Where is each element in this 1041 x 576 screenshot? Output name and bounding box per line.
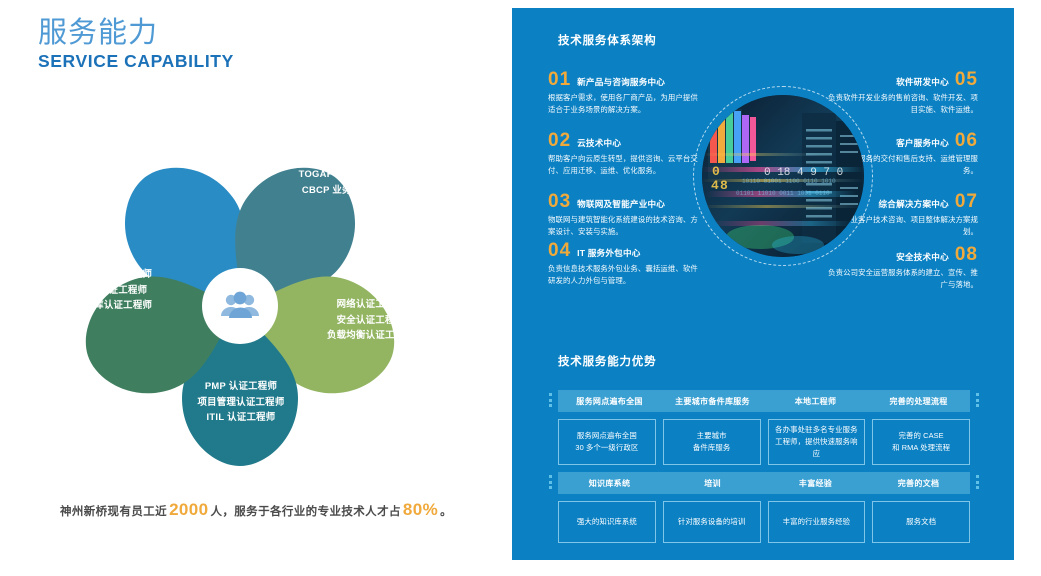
notch-right-decoration (974, 475, 981, 491)
arch-item-04-head: 04 IT 服务外包中心 (548, 241, 698, 260)
advantages-table-2-header: 知识库系统 培训 丰富经验 完善的文档 (558, 472, 970, 494)
svg-text:10110 01001 1100 0110 1010: 10110 01001 1100 0110 1010 (742, 178, 836, 185)
table-cell: 针对服务设备的培训 (663, 501, 761, 543)
table-header-cell: 主要城市备件库服务 (661, 390, 764, 412)
advantages-table-1: 服务网点遍布全国 主要城市备件库服务 本地工程师 完善的处理流程 服务网点遍布全… (558, 390, 970, 465)
table-cell-line: 30 多个一级行政区 (575, 442, 638, 454)
arch-item-04: 04 IT 服务外包中心 负责信息技术服务外包业务、囊括运维、软件研发的人力外包… (548, 241, 698, 287)
table-cell-line: 服务文档 (906, 516, 936, 528)
table-header-cell: 完善的文档 (867, 472, 970, 494)
advantages-table-2: 知识库系统 培训 丰富经验 完善的文档 强大的知识库系统 针对服务设备的培训 丰… (558, 472, 970, 543)
arch-item-04-label: IT 服务外包中心 (577, 249, 640, 258)
table-cell-line: 完善的 CASE (899, 430, 944, 442)
arch-item-02-head: 02 云技术中心 (548, 131, 698, 150)
left-panel: 服务能力 SERVICE CAPABILITY (0, 0, 512, 576)
arch-item-06-label: 客户服务中心 (896, 139, 949, 148)
table-header-cell: 服务网点遍布全国 (558, 390, 661, 412)
table-header-cell: 完善的处理流程 (867, 390, 970, 412)
table-cell-line: 各办事处驻多名专业服务 (775, 424, 857, 436)
employee-stats-caption: 神州新桥现有员工近2000人，服务于各行业的专业技术人才占80%。 (0, 500, 512, 520)
table-cell-line: 主要城市 (697, 430, 727, 442)
page-title-block: 服务能力 SERVICE CAPABILITY (38, 18, 234, 71)
arch-item-03-head: 03 物联网及智能产业中心 (548, 192, 698, 211)
table-row: 服务网点遍布全国 30 多个一级行政区 主要城市 备件库服务 各办事处驻多名专业… (558, 419, 970, 465)
table-header-cell: 培训 (661, 472, 764, 494)
caption-employee-count: 2000 (167, 500, 210, 519)
table-cell: 各办事处驻多名专业服务 工程师，提供快速服务响应 (768, 419, 866, 465)
page-title-en: SERVICE CAPABILITY (38, 52, 234, 71)
arch-item-01: 01 新产品与咨询服务中心 根据客户需求，使用各厂商产品，为用户提供适合于业务场… (548, 70, 698, 116)
caption-part-1: 神州新桥现有员工近 (60, 506, 167, 518)
arch-item-08-desc: 负责公司安全运营服务体系的建立、宣传、推广与落地。 (828, 267, 978, 291)
table-cell: 主要城市 备件库服务 (663, 419, 761, 465)
arch-item-01-desc: 根据客户需求，使用各厂商产品，为用户提供适合于业务场景的解决方案。 (548, 92, 698, 116)
arch-item-06-number: 06 (955, 131, 978, 150)
table-cell: 强大的知识库系统 (558, 501, 656, 543)
arch-item-05-label: 软件研发中心 (896, 78, 949, 87)
arch-item-04-desc: 负责信息技术服务外包业务、囊括运维、软件研发的人力外包与管理。 (548, 263, 698, 287)
arch-item-03-number: 03 (548, 192, 571, 211)
caption-part-3: 。 (440, 506, 452, 518)
table-header-cell: 本地工程师 (764, 390, 867, 412)
svg-text:01101 11010 0011 1001 0110: 01101 11010 0011 1001 0110 (736, 190, 830, 197)
arch-item-02-label: 云技术中心 (577, 139, 621, 148)
arch-item-07-label: 综合解决方案中心 (879, 200, 949, 209)
arch-item-02: 02 云技术中心 帮助客户向云原生转型，提供咨询、云平台交付、应用迁移、运维、优… (548, 131, 698, 177)
arch-item-07-number: 07 (955, 192, 978, 211)
notch-right-decoration (974, 393, 981, 409)
architecture-section-title: 技术服务体系架构 (558, 32, 656, 48)
table-cell: 丰富的行业服务经验 (768, 501, 866, 543)
table-cell-line: 针对服务设备的培训 (678, 516, 745, 528)
table-cell-line: 工程师，提供快速服务响应 (773, 436, 861, 460)
table-cell: 完善的 CASE 和 RMA 处理流程 (872, 419, 970, 465)
svg-text:8: 8 (720, 178, 728, 193)
arch-item-05-number: 05 (955, 70, 978, 89)
arch-item-02-desc: 帮助客户向云原生转型，提供咨询、云平台交付、应用迁移、运维、优化服务。 (548, 153, 698, 177)
arch-item-03-label: 物联网及智能产业中心 (577, 200, 665, 209)
right-panel: 技术服务体系架构 01 新产品与咨询服务中心 根据客户需求，使用各厂商产品，为用… (512, 8, 1014, 560)
table-header-cell: 知识库系统 (558, 472, 661, 494)
table-cell-line: 服务网点遍布全国 (577, 430, 637, 442)
caption-percentage: 80% (401, 500, 440, 519)
arch-item-01-number: 01 (548, 70, 571, 89)
table-cell-line: 强大的知识库系统 (577, 516, 637, 528)
table-cell: 服务网点遍布全国 30 多个一级行政区 (558, 419, 656, 465)
arch-item-02-number: 02 (548, 131, 571, 150)
page-title-cn: 服务能力 (38, 18, 234, 50)
data-center-photo: 0 4 8 0 18 4 9 7 0 10110 01001 1100 0110… (702, 95, 864, 257)
notch-left-decoration (547, 475, 554, 491)
table-cell: 服务文档 (872, 501, 970, 543)
arch-item-03: 03 物联网及智能产业中心 物联网与建筑智能化系统建设的技术咨询、方案设计、安装… (548, 192, 698, 238)
svg-text:4: 4 (711, 178, 719, 193)
arch-item-08-label: 安全技术中心 (896, 253, 949, 262)
caption-part-2: 人，服务于各行业的专业技术人才占 (210, 506, 400, 518)
table-header-cell: 丰富经验 (764, 472, 867, 494)
arch-item-01-label: 新产品与咨询服务中心 (577, 78, 665, 87)
table-cell-line: 备件库服务 (693, 442, 730, 454)
flower-center-hub (202, 268, 278, 344)
svg-text:0: 0 (712, 164, 720, 179)
table-cell-line: 和 RMA 处理流程 (892, 442, 950, 454)
arch-item-01-head: 01 新产品与咨询服务中心 (548, 70, 698, 89)
service-capability-flower-diagram: 云计算认证工程师 大数据认证工程师 软件认证工程师 TOGAF 企业业务架构师 … (28, 78, 488, 488)
advantages-section-title: 技术服务能力优势 (558, 353, 656, 369)
table-cell-line: 丰富的行业服务经验 (783, 516, 850, 528)
arch-item-04-number: 04 (548, 241, 571, 260)
arch-item-08-number: 08 (955, 245, 978, 264)
arch-item-03-desc: 物联网与建筑智能化系统建设的技术咨询、方案设计、安装与实施。 (548, 214, 698, 238)
advantages-table-1-header: 服务网点遍布全国 主要城市备件库服务 本地工程师 完善的处理流程 (558, 390, 970, 412)
data-center-photo-circle: 0 4 8 0 18 4 9 7 0 10110 01001 1100 0110… (693, 86, 873, 266)
notch-left-decoration (547, 393, 554, 409)
table-row: 强大的知识库系统 针对服务设备的培训 丰富的行业服务经验 服务文档 (558, 501, 970, 543)
flower-petals-svg (28, 78, 488, 488)
